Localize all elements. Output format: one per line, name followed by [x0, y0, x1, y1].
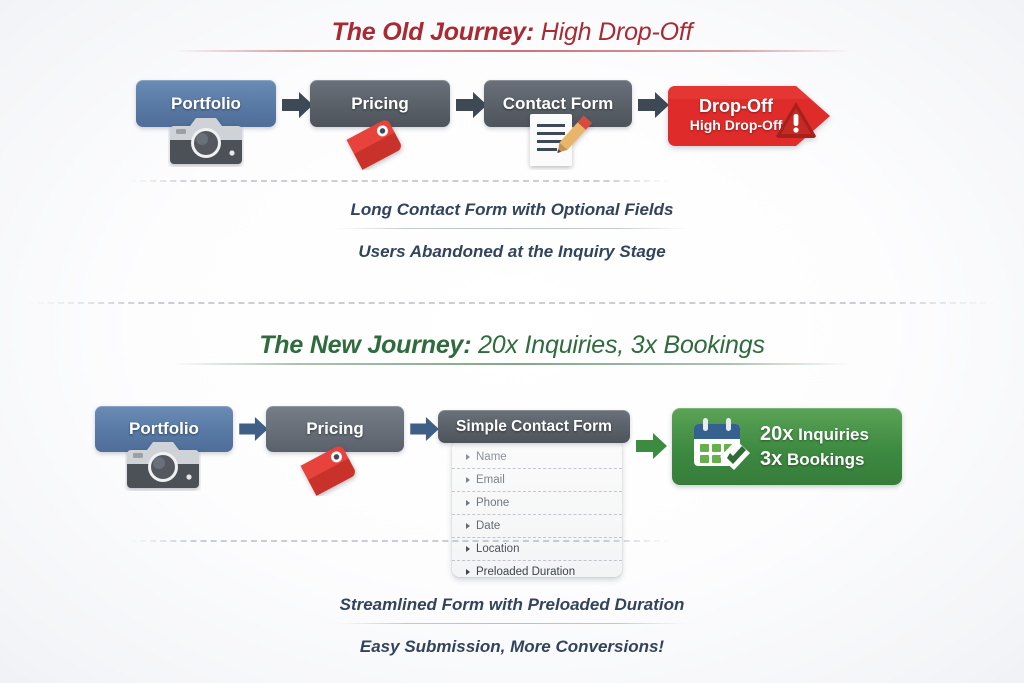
form-field-label: Date: [476, 520, 500, 532]
old-arrow-3: [638, 92, 670, 118]
form-field-label: Name: [476, 451, 507, 463]
new-caption-1: Streamlined Form with Preloaded Duration: [0, 595, 1024, 615]
warning-triangle-icon: [774, 100, 818, 145]
bullet-triangle-icon: [466, 569, 470, 575]
form-field-row[interactable]: Email: [452, 469, 622, 492]
old-step-portfolio-label: Portfolio: [171, 94, 241, 114]
new-flow-divider: [130, 540, 670, 542]
bullet-triangle-icon: [466, 454, 470, 460]
new-journey-title-main: The New Journey:: [259, 331, 471, 359]
form-field-label: Preloaded Duration: [476, 566, 575, 578]
old-flow-divider: [130, 180, 670, 182]
new-arrow-1: [239, 417, 269, 441]
camera-icon: [125, 436, 201, 491]
simple-contact-form-header-label: Simple Contact Form: [456, 418, 612, 436]
bullet-triangle-icon: [466, 523, 470, 529]
new-arrow-3: [636, 433, 668, 459]
old-caption-rule: [337, 228, 687, 229]
result-inquiries-label: Inquiries: [793, 425, 869, 444]
old-journey-title-main: The Old Journey:: [332, 18, 534, 46]
form-field-row[interactable]: Preloaded Duration: [452, 561, 622, 583]
form-field-label: Location: [476, 543, 519, 555]
calendar-check-icon: [686, 415, 750, 478]
new-journey-title-rest: 20x Inquiries, 3x Bookings: [471, 331, 764, 359]
result-bookings-value: 3x: [760, 448, 782, 470]
bullet-triangle-icon: [466, 546, 470, 552]
price-tag-icon: [342, 108, 418, 170]
section-divider: [28, 302, 996, 304]
result-text-block: 20x Inquiries 3x Bookings: [760, 422, 869, 472]
form-field-label: Email: [476, 474, 505, 486]
form-field-row[interactable]: Phone: [452, 492, 622, 515]
old-journey-title-rest: High Drop-Off: [534, 18, 692, 46]
result-bookings-label: Bookings: [782, 450, 864, 469]
dropoff-label-primary: Drop-Off: [699, 97, 773, 116]
form-field-row[interactable]: Date: [452, 515, 622, 538]
new-caption-rule: [337, 623, 687, 624]
simple-contact-form-header[interactable]: Simple Contact Form: [438, 410, 630, 443]
dropoff-label-secondary: High Drop-Off: [690, 116, 783, 136]
old-outcome-dropoff[interactable]: Drop-Off High Drop-Off: [668, 86, 830, 146]
old-journey-title-rule: [172, 50, 852, 52]
new-outcome-result[interactable]: 20x Inquiries 3x Bookings: [672, 408, 902, 485]
new-caption-2: Easy Submission, More Conversions!: [0, 637, 1024, 657]
form-field-label: Phone: [476, 497, 509, 509]
new-arrow-2: [410, 417, 440, 441]
old-caption-1: Long Contact Form with Optional Fields: [0, 200, 1024, 220]
bullet-triangle-icon: [466, 477, 470, 483]
old-journey-title: The Old Journey: High Drop-Off: [0, 18, 1024, 47]
bullet-triangle-icon: [466, 500, 470, 506]
price-tag-icon: [296, 434, 372, 496]
form-field-row[interactable]: Name: [452, 446, 622, 469]
new-journey-title-rule: [172, 363, 852, 365]
new-journey-title: The New Journey: 20x Inquiries, 3x Booki…: [0, 331, 1024, 360]
old-caption-2: Users Abandoned at the Inquiry Stage: [0, 242, 1024, 262]
form-field-list: NameEmailPhoneDateLocationPreloaded Dura…: [452, 440, 622, 587]
simple-contact-form-card: NameEmailPhoneDateLocationPreloaded Dura…: [452, 440, 622, 577]
result-inquiries-value: 20x: [760, 423, 793, 445]
camera-icon: [168, 112, 244, 167]
infographic-canvas: The Old Journey: High Drop-Off Portfolio: [0, 0, 1024, 683]
document-pencil-icon: [524, 108, 594, 170]
